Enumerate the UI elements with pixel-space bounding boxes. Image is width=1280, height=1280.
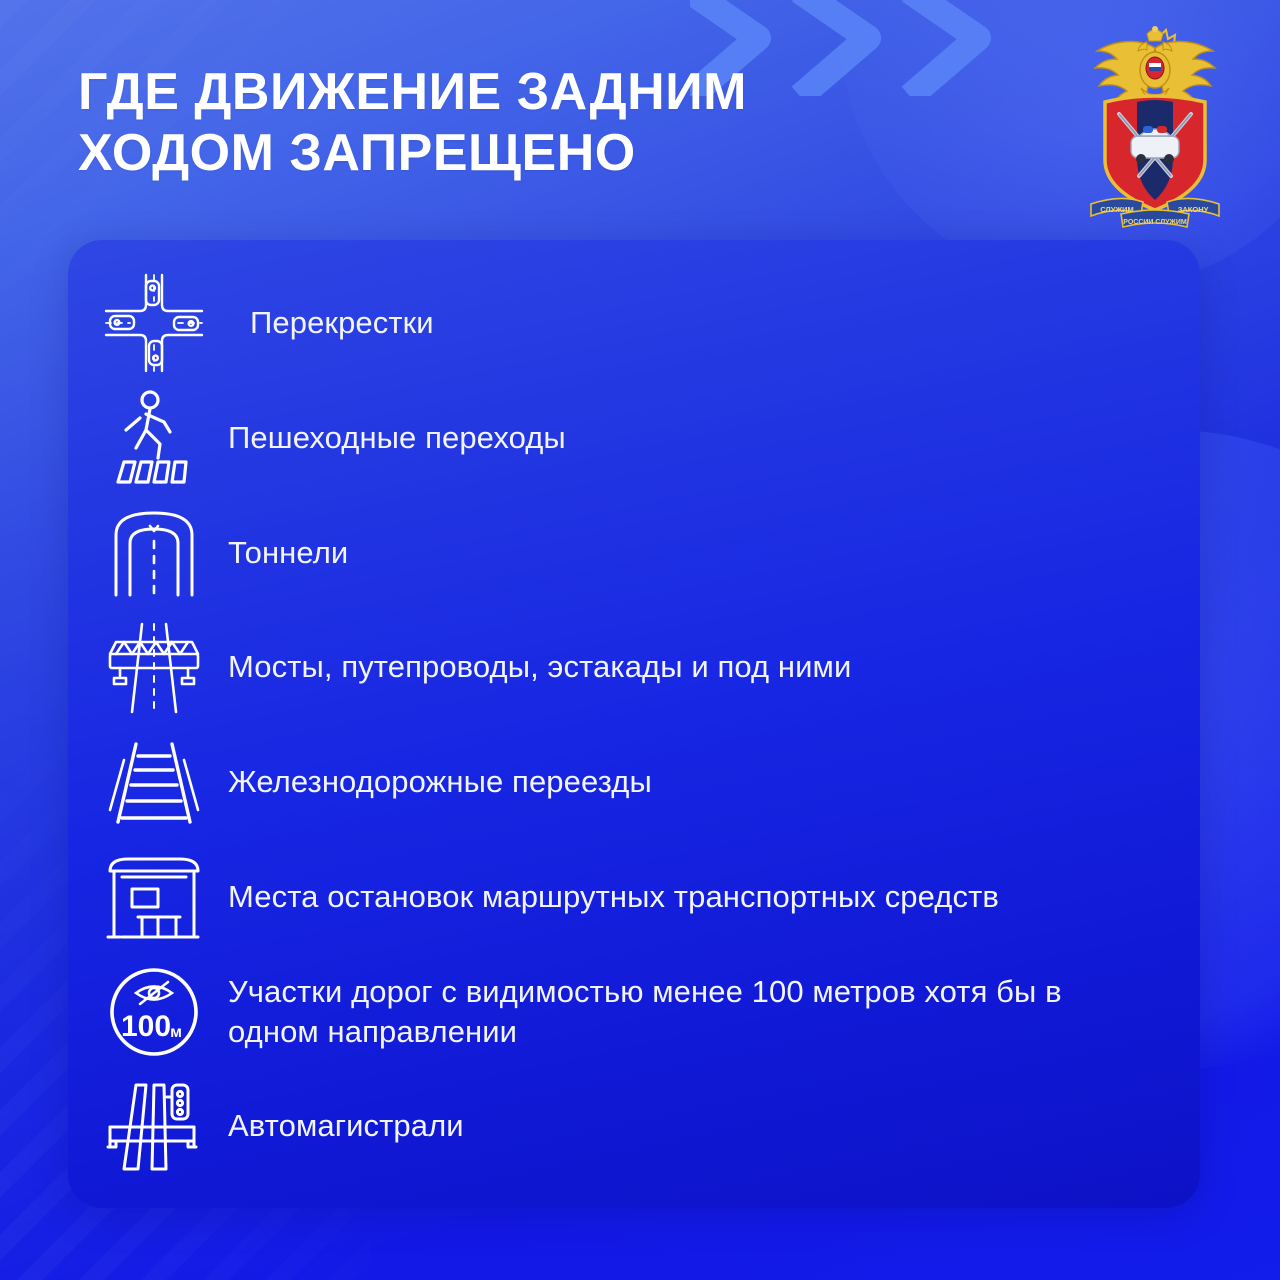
emblem-motto-right: ЗАКОНУ (1178, 205, 1209, 214)
list-item: Мосты, путепроводы, эстакады и под ними (102, 616, 1160, 720)
list-item: Пешеходные переходы (102, 386, 1160, 490)
list-item-label: Участки дорог с видимостью менее 100 мет… (228, 972, 1108, 1053)
bridge-icon (102, 616, 206, 720)
list-item: Места остановок маршрутных транспортных … (102, 845, 1160, 949)
crossroads-icon (102, 271, 206, 375)
pedestrian-crossing-icon (102, 386, 206, 490)
list-item-label: Автомагистрали (228, 1106, 464, 1146)
restrictions-list: Перекрестки (68, 240, 1200, 1208)
visibility-distance-value: 100 (121, 1010, 171, 1043)
emblem-shield (1105, 96, 1205, 210)
list-item: Перекрестки (102, 271, 1160, 375)
page-title-line-2: ХОДОМ ЗАПРЕЩЕНО (78, 123, 978, 184)
list-item-label: Тоннели (228, 533, 348, 573)
emblem-motto-left: СЛУЖИМ (1100, 205, 1134, 214)
list-item: Автомагистрали (102, 1075, 1160, 1179)
list-item-label: Перекрестки (250, 303, 434, 343)
visibility-distance-unit: м (170, 1024, 182, 1041)
emblem-motto-center: РОССИИ СЛУЖИМ (1123, 219, 1187, 226)
motorway-icon (102, 1075, 206, 1179)
railway-crossing-icon (102, 730, 206, 834)
list-item-label: Места остановок маршрутных транспортных … (228, 877, 999, 917)
gibdd-emblem: СЛУЖИМ ЗАКОНУ РОССИИ СЛУЖИМ (1075, 18, 1235, 233)
bus-stop-icon (102, 845, 206, 949)
list-item-label: Мосты, путепроводы, эстакады и под ними (228, 647, 851, 687)
tunnel-icon (102, 501, 206, 605)
list-item-label: Пешеходные переходы (228, 418, 566, 458)
poster: ГДЕ ДВИЖЕНИЕ ЗАДНИМ ХОДОМ ЗАПРЕЩЕНО (0, 0, 1280, 1280)
list-item-label: Железнодорожные переезды (228, 762, 652, 802)
list-item: 100 м Участки дорог с видимостью менее 1… (102, 960, 1160, 1064)
list-item: Железнодорожные переезды (102, 730, 1160, 834)
restrictions-card: Перекрестки (68, 240, 1200, 1208)
page-title-line-1: ГДЕ ДВИЖЕНИЕ ЗАДНИМ (78, 62, 978, 123)
double-headed-eagle (1095, 26, 1215, 104)
list-item: Тоннели (102, 501, 1160, 605)
limited-visibility-icon: 100 м (102, 960, 206, 1064)
page-title: ГДЕ ДВИЖЕНИЕ ЗАДНИМ ХОДОМ ЗАПРЕЩЕНО (78, 62, 978, 184)
header: ГДЕ ДВИЖЕНИЕ ЗАДНИМ ХОДОМ ЗАПРЕЩЕНО (0, 0, 1280, 240)
